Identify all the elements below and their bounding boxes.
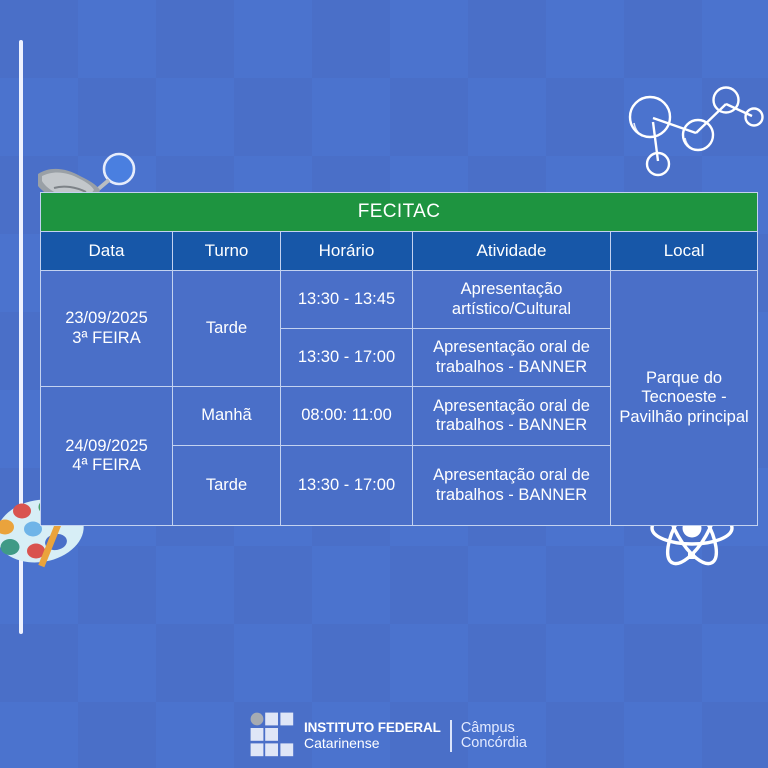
table-header-row: Data Turno Horário Atividade Local (41, 232, 758, 271)
cell-horario-4: 13:30 - 17:00 (281, 446, 413, 526)
date-line-1: 23/09/2025 (47, 309, 166, 328)
institute-name-line1: INSTITUTO FEDERAL (304, 721, 441, 735)
column-header-turno: Turno (173, 232, 281, 271)
cell-date-2: 24/09/2025 4ª FEIRA (41, 387, 173, 526)
cell-horario-2: 13:30 - 17:00 (281, 329, 413, 387)
poster-canvas: FECITAC Data Turno Horário Atividade Loc… (0, 0, 768, 768)
footer-logo: INSTITUTO FEDERAL Catarinense Câmpus Con… (250, 712, 527, 760)
cell-horario-3: 08:00: 11:00 (281, 387, 413, 446)
cell-atividade-4: Apresentação oral de trabalhos - BANNER (413, 446, 611, 526)
cell-date-1: 23/09/2025 3ª FEIRA (41, 271, 173, 387)
cell-atividade-2: Apresentação oral de trabalhos - BANNER (413, 329, 611, 387)
cell-turno-1: Tarde (173, 271, 281, 387)
date-line-1: 24/09/2025 (47, 437, 166, 456)
table-row: 23/09/2025 3ª FEIRA Tarde 13:30 - 13:45 … (41, 271, 758, 329)
schedule-table: FECITAC Data Turno Horário Atividade Loc… (40, 192, 758, 526)
molecule-icon (618, 78, 768, 183)
column-header-local: Local (611, 232, 758, 271)
cell-atividade-1: Apresentação artístico/Cultural (413, 271, 611, 329)
institute-name-line2: Catarinense (304, 736, 441, 751)
table-title: FECITAC (41, 193, 758, 232)
date-line-2: 4ª FEIRA (47, 456, 166, 475)
logo-divider (450, 720, 452, 752)
cell-turno-3: Tarde (173, 446, 281, 526)
column-header-atividade: Atividade (413, 232, 611, 271)
column-header-horario: Horário (281, 232, 413, 271)
institute-logo-mark-icon (250, 712, 294, 760)
cell-local: Parque do Tecnoeste - Pavilhão principal (611, 271, 758, 526)
cell-turno-2: Manhã (173, 387, 281, 446)
cell-atividade-3: Apresentação oral de trabalhos - BANNER (413, 387, 611, 446)
institute-name: INSTITUTO FEDERAL Catarinense (304, 721, 441, 750)
campus-name-line1: Câmpus (461, 721, 527, 737)
campus-name: Câmpus Concórdia (461, 721, 527, 752)
date-line-2: 3ª FEIRA (47, 329, 166, 348)
logo-text-block: INSTITUTO FEDERAL Catarinense Câmpus Con… (304, 720, 527, 752)
table-title-row: FECITAC (41, 193, 758, 232)
column-header-data: Data (41, 232, 173, 271)
cell-horario-1: 13:30 - 13:45 (281, 271, 413, 329)
campus-name-line2: Concórdia (461, 736, 527, 752)
